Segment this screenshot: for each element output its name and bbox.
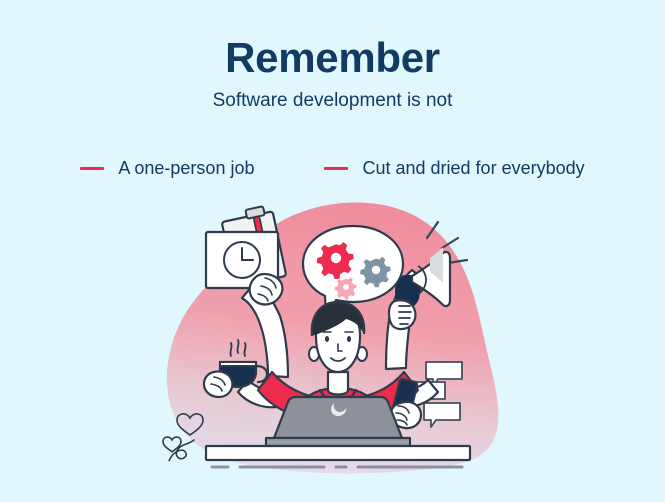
- hand-right-megaphone: [389, 300, 415, 329]
- header: Remember Software development is not: [0, 36, 665, 113]
- laptop-icon: [266, 397, 410, 446]
- bullet-list: A one-person job Cut and dried for every…: [0, 158, 665, 179]
- bullet-item-1: A one-person job: [80, 158, 254, 179]
- hand-left-card: [250, 274, 283, 304]
- dash-icon: [80, 167, 104, 170]
- hand-left-cup: [204, 371, 232, 397]
- bullet-item-2: Cut and dried for everybody: [324, 158, 584, 179]
- dash-icon: [324, 167, 348, 170]
- page-title: Remember: [0, 36, 665, 80]
- page-subtitle: Software development is not: [0, 90, 665, 113]
- bullet-item-2-label: Cut and dried for everybody: [362, 158, 584, 179]
- multitasking-developer-illustration: [128, 196, 548, 496]
- slide-root: Remember Software development is not A o…: [0, 0, 665, 502]
- bullet-item-1-label: A one-person job: [118, 158, 254, 179]
